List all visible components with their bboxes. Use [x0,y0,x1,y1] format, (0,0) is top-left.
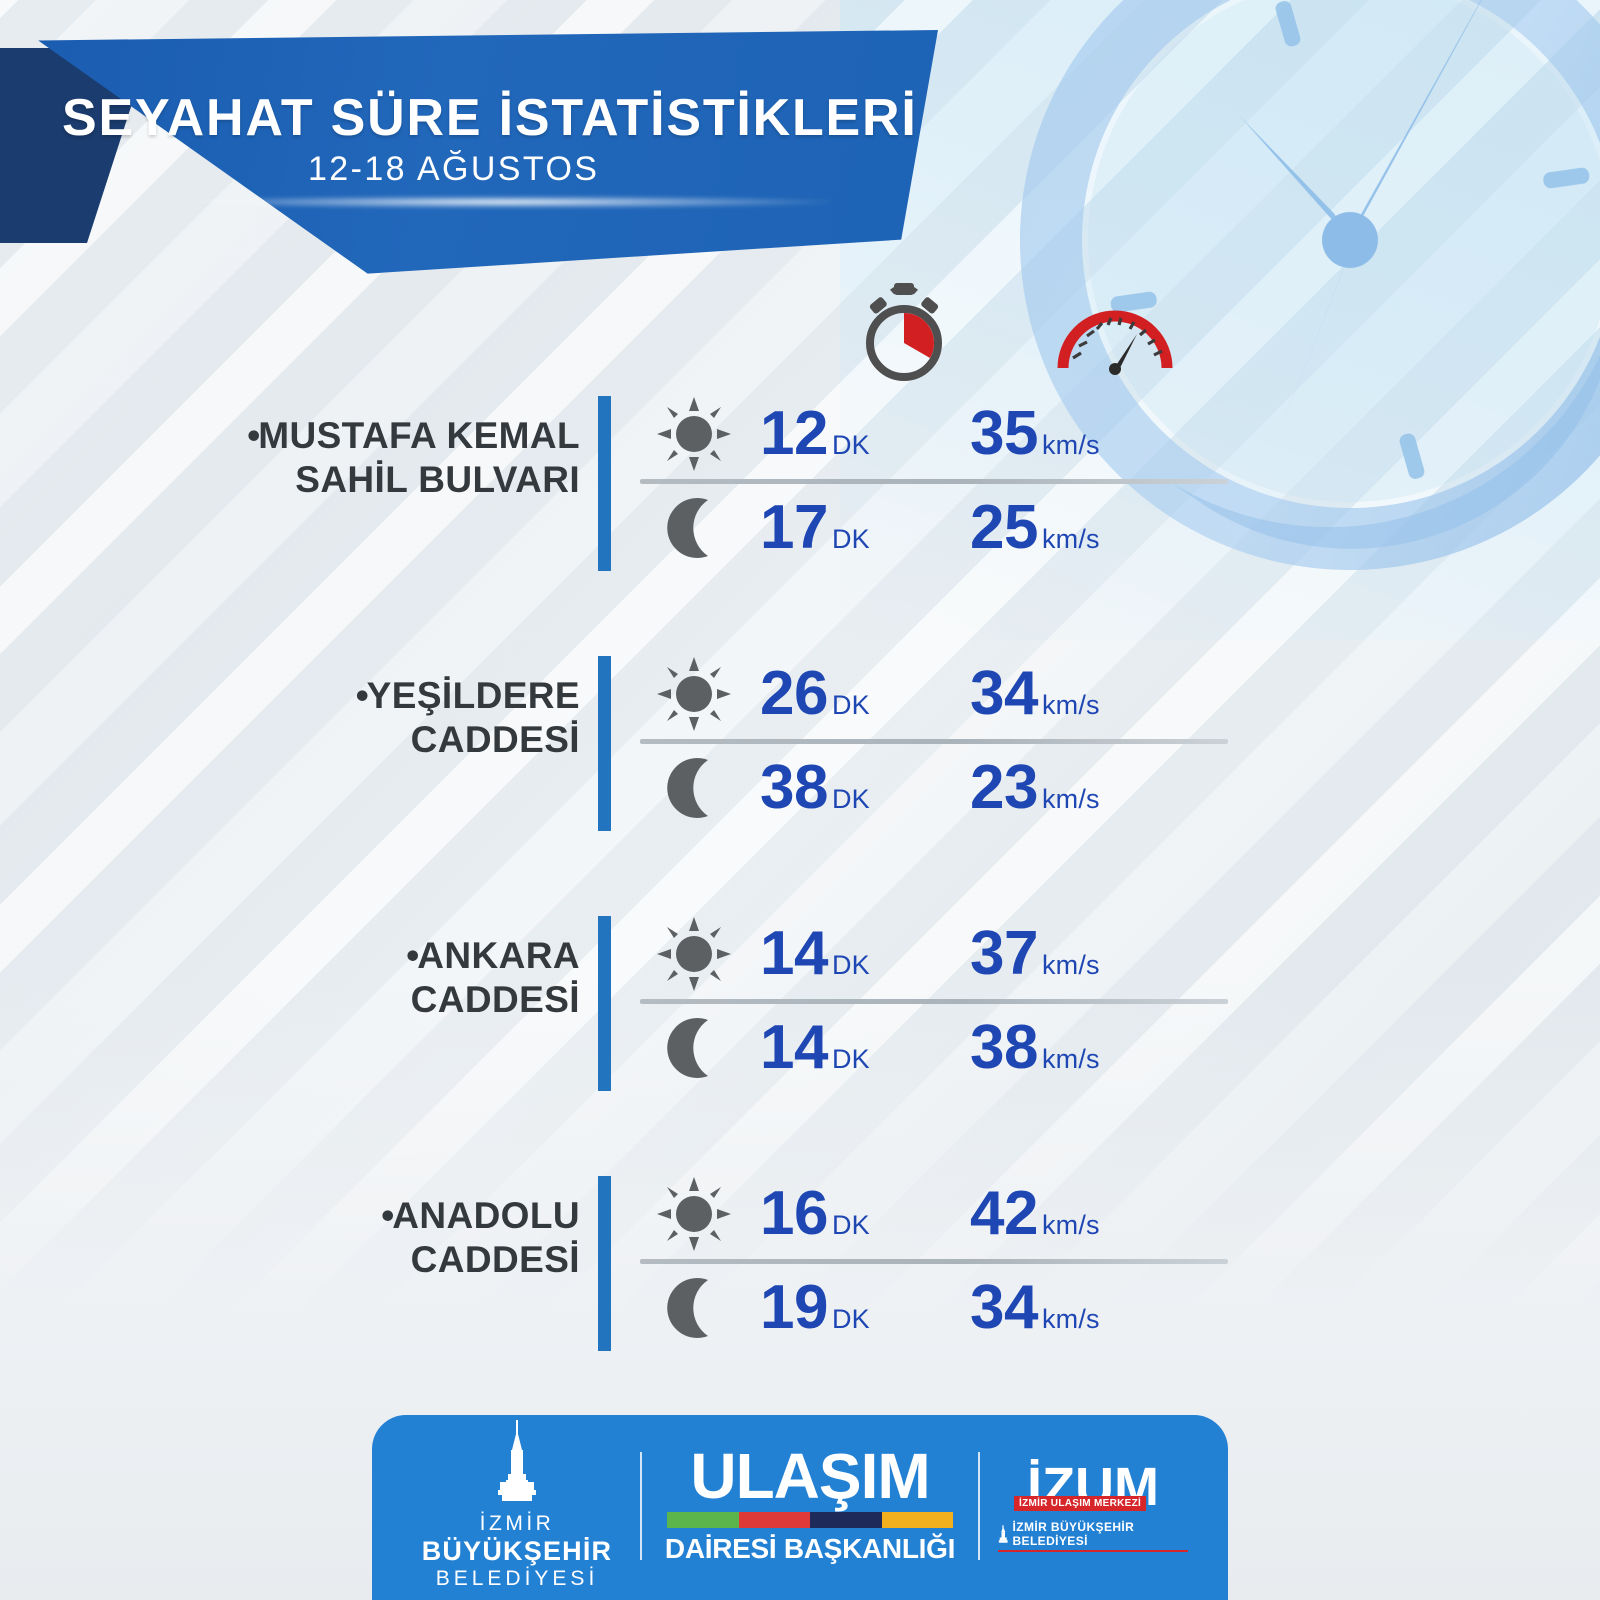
day-metrics-row: 12 DK 35 km/s [640,390,1260,478]
day-duration-unit: DK [832,692,870,719]
row-accent-bar [598,656,611,831]
ulasim-color-navy [810,1512,882,1528]
day-duration-value: 16 [760,1183,828,1245]
speedometer-icon [1055,300,1175,376]
clock-tower-icon [486,1420,548,1508]
street-name: •YEŞİLDERE CADDESİ [120,674,580,761]
ulasim-color-bar [667,1512,953,1528]
day-speed-unit: km/s [1042,692,1100,719]
night-speed: 23 km/s [968,757,1248,819]
table-row: •ANADOLU CADDESİ [0,1170,1600,1352]
night-duration: 38 DK [748,757,968,819]
ulasim-dairesi-logo: ULAŞIM DAİRESİ BAŞKANLIĞI [660,1446,960,1566]
izum-subtitle: İZMİR BÜYÜKŞEHİR BELEDİYESİ [1012,1520,1188,1548]
day-duration-unit: DK [832,952,870,979]
izum-subtitle-row: İZMİR BÜYÜKŞEHİR BELEDİYESİ [998,1520,1188,1552]
street-name-line1: YEŞİLDERE [367,675,580,716]
bullet-icon: • [381,1195,392,1236]
night-speed: 38 km/s [968,1017,1248,1079]
night-duration-unit: DK [832,1046,870,1073]
night-speed-value: 38 [970,1017,1038,1079]
day-duration: 14 DK [748,923,968,985]
sun-icon [640,1175,748,1253]
moon-icon [640,1272,748,1344]
night-speed: 25 km/s [968,497,1248,559]
row-accent-bar [598,916,611,1091]
night-duration: 14 DK [748,1017,968,1079]
day-speed-value: 35 [970,403,1038,465]
ulasim-subtitle: DAİRESİ BAŞKANLIĞI [665,1533,955,1565]
ulasim-color-amber [882,1512,954,1528]
night-speed-unit: km/s [1042,526,1100,553]
street-name-line1: ANADOLU [392,1195,580,1236]
night-duration-value: 19 [760,1277,828,1339]
day-speed: 42 km/s [968,1183,1248,1245]
ulasim-color-green [667,1512,739,1528]
night-duration-value: 14 [760,1017,828,1079]
night-metrics-row: 14 DK 38 km/s [640,1004,1260,1092]
ibb-line1: İZMİR [480,1512,555,1536]
row-metrics: 12 DK 35 km/s 17 [640,390,1260,572]
ulasim-color-red [739,1512,811,1528]
day-duration-value: 12 [760,403,828,465]
street-name-line2: CADDESİ [411,1239,580,1280]
sun-icon [640,655,748,733]
column-icons [840,278,1220,388]
day-speed: 37 km/s [968,923,1248,985]
day-duration-unit: DK [832,432,870,459]
clock-tower-small-icon [998,1524,1008,1544]
ibb-line2: BÜYÜKŞEHİR [422,1536,613,1567]
night-metrics-row: 19 DK 34 km/s [640,1264,1260,1352]
footer-logo-bar: İZMİR BÜYÜKŞEHİR BELEDİYESİ ULAŞIM DAİRE… [372,1415,1228,1600]
night-duration: 19 DK [748,1277,968,1339]
day-duration-value: 26 [760,663,828,725]
street-name: •ANKARA CADDESİ [120,934,580,1021]
street-name-line1: MUSTAFA KEMAL [258,415,580,456]
day-speed-unit: km/s [1042,952,1100,979]
night-speed: 34 km/s [968,1277,1248,1339]
night-duration-unit: DK [832,1306,870,1333]
day-metrics-row: 14 DK 37 km/s [640,910,1260,998]
row-accent-bar [598,1176,611,1351]
night-speed-unit: km/s [1042,1306,1100,1333]
night-speed-value: 34 [970,1277,1038,1339]
day-speed-value: 42 [970,1183,1038,1245]
sun-icon [640,395,748,473]
day-duration: 16 DK [748,1183,968,1245]
izum-logo: İZUM İZMİR ULAŞIM MERKEZİ İZMİR BÜYÜKŞEH… [998,1460,1188,1552]
day-duration: 26 DK [748,663,968,725]
header-glow-line [180,196,830,208]
night-speed-unit: km/s [1042,786,1100,813]
sun-icon [640,915,748,993]
stats-table: •MUSTAFA KEMAL SAHİL BULVARI [0,390,1600,1352]
day-metrics-row: 16 DK 42 km/s [640,1170,1260,1258]
infographic-poster: SEYAHAT SÜRE İSTATİSTİKLERİ 12-18 AĞUSTO… [0,0,1600,1600]
moon-icon [640,492,748,564]
bullet-icon: • [406,935,417,976]
day-speed-unit: km/s [1042,1212,1100,1239]
day-metrics-row: 26 DK 34 km/s [640,650,1260,738]
row-metrics: 26 DK 34 km/s 38 [640,650,1260,832]
day-speed: 34 km/s [968,663,1248,725]
day-speed: 35 km/s [968,403,1248,465]
night-duration-value: 17 [760,497,828,559]
stopwatch-icon [850,278,958,386]
street-name-line2: CADDESİ [411,719,580,760]
table-row: •YEŞİLDERE CADDESİ [0,650,1600,832]
street-name-line2: SAHİL BULVARI [295,459,580,500]
night-metrics-row: 17 DK 25 km/s [640,484,1260,572]
ibb-line3: BELEDİYESİ [436,1567,599,1591]
day-speed-unit: km/s [1042,432,1100,459]
night-speed-unit: km/s [1042,1046,1100,1073]
izmir-buyuksehir-belediyesi-logo: İZMİR BÜYÜKŞEHİR BELEDİYESİ [412,1420,622,1591]
table-row: •ANKARA CADDESİ [0,910,1600,1092]
night-duration-unit: DK [832,526,870,553]
night-duration-value: 38 [760,757,828,819]
bullet-icon: • [356,675,367,716]
night-duration-unit: DK [832,786,870,813]
page-subtitle: 12-18 AĞUSTOS [308,150,599,189]
night-speed-value: 25 [970,497,1038,559]
day-duration-unit: DK [832,1212,870,1239]
row-accent-bar [598,396,611,571]
night-metrics-row: 38 DK 23 km/s [640,744,1260,832]
night-speed-value: 23 [970,757,1038,819]
street-name-line2: CADDESİ [411,979,580,1020]
street-name-line1: ANKARA [417,935,580,976]
page-title: SEYAHAT SÜRE İSTATİSTİKLERİ [62,88,918,148]
ulasim-word: ULAŞIM [690,1446,929,1507]
day-speed-value: 34 [970,663,1038,725]
footer-separator-2 [978,1452,980,1560]
day-duration: 12 DK [748,403,968,465]
night-duration: 17 DK [748,497,968,559]
street-name: •ANADOLU CADDESİ [120,1194,580,1281]
moon-icon [640,752,748,824]
izum-tagline: İZMİR ULAŞIM MERKEZİ [1014,1496,1146,1511]
moon-icon [640,1012,748,1084]
table-row: •MUSTAFA KEMAL SAHİL BULVARI [0,390,1600,572]
row-metrics: 14 DK 37 km/s 14 [640,910,1260,1092]
footer-separator-1 [640,1452,642,1560]
bullet-icon: • [247,415,258,456]
street-name: •MUSTAFA KEMAL SAHİL BULVARI [120,414,580,501]
day-speed-value: 37 [970,923,1038,985]
day-duration-value: 14 [760,923,828,985]
row-metrics: 16 DK 42 km/s 19 [640,1170,1260,1352]
